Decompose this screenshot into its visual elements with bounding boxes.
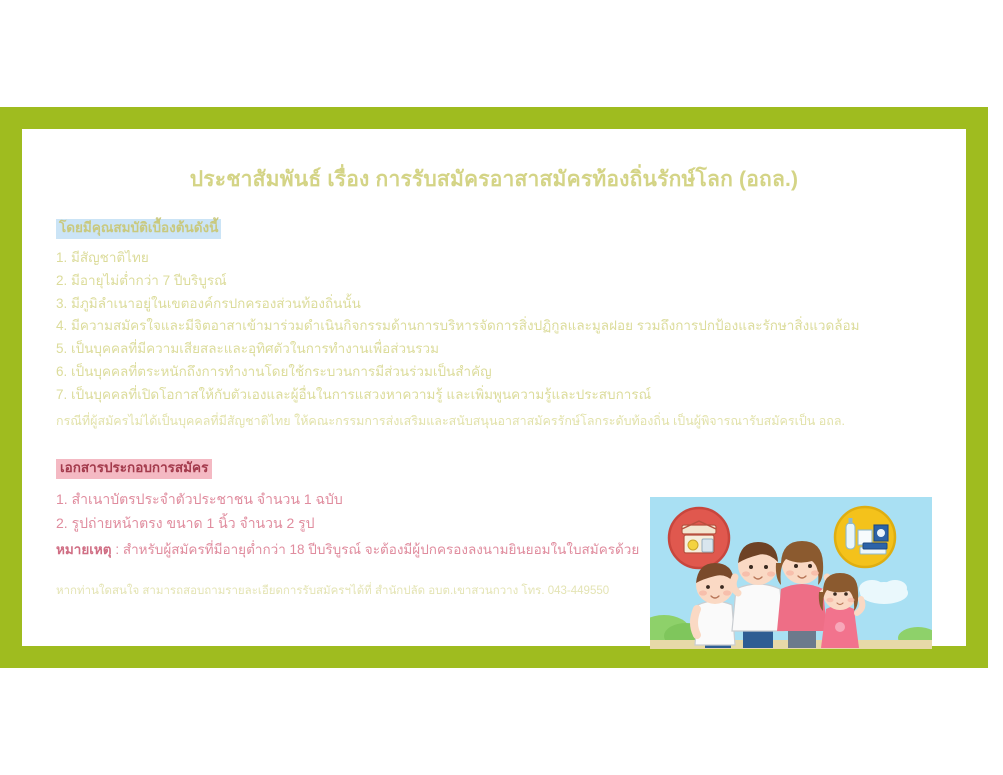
documents-section: เอกสารประกอบการสมัคร 1. สำเนาบัตรประจำตั…	[56, 459, 616, 562]
documents-heading-wrap: เอกสารประกอบการสมัคร	[56, 459, 616, 479]
recycling-bubble-icon	[835, 507, 895, 567]
list-item: 6. เป็นบุคคลที่ตระหนักถึงการทำงานโดยใช้ก…	[56, 361, 936, 383]
illustration-svg	[650, 497, 932, 649]
list-item: 4. มีความสมัครใจและมีจิตอาสาเข้ามาร่วมดำ…	[56, 315, 936, 337]
documents-note: หมายเหตุ : สำหรับผู้สมัครที่มีอายุต่ำกว่…	[56, 539, 616, 562]
list-item: 1. สำเนาบัตรประจำตัวประชาชน จำนวน 1 ฉบับ	[56, 487, 616, 512]
documents-heading: เอกสารประกอบการสมัคร	[56, 459, 212, 479]
qualifications-heading-wrap: โดยมีคุณสมบัติเบื้องต้นดังนี้	[56, 219, 936, 239]
qualifications-list: 1. มีสัญชาติไทย 2. มีอายุไม่ต่ำกว่า 7 ปี…	[56, 247, 936, 406]
family-recycling-illustration	[650, 497, 932, 649]
qualifications-note: กรณีที่ผู้สมัครไม่ได้เป็นบุคคลที่มีสัญชา…	[56, 411, 936, 431]
list-item: 2. รูปถ่ายหน้าตรง ขนาด 1 นิ้ว จำนวน 2 รู…	[56, 511, 616, 536]
list-item: 1. มีสัญชาติไทย	[56, 247, 936, 269]
qualifications-section: โดยมีคุณสมบัติเบื้องต้นดังนี้ 1. มีสัญชา…	[56, 219, 936, 431]
documents-note-label: หมายเหตุ	[56, 542, 112, 557]
footer-contact-line: หากท่านใดสนใจ สามารถสอบถามรายละเอียดการร…	[56, 582, 609, 600]
qualifications-heading: โดยมีคุณสมบัติเบื้องต้นดังนี้	[56, 219, 221, 239]
documents-list: 1. สำเนาบัตรประจำตัวประชาชน จำนวน 1 ฉบับ…	[56, 487, 616, 536]
poster-green-frame: ประชาสัมพันธ์ เรื่อง การรับสมัครอาสาสมัค…	[0, 107, 988, 668]
list-item: 2. มีอายุไม่ต่ำกว่า 7 ปีบริบูรณ์	[56, 270, 936, 292]
list-item: 3. มีภูมิลำเนาอยู่ในเขตองค์กรปกครองส่วนท…	[56, 293, 936, 315]
cloud-icon	[859, 580, 908, 604]
boy-character	[694, 563, 735, 648]
documents-note-text: : สำหรับผู้สมัครที่มีอายุต่ำกว่า 18 ปีบร…	[112, 542, 640, 557]
poster-content-area: ประชาสัมพันธ์ เรื่อง การรับสมัครอาสาสมัค…	[22, 129, 966, 646]
list-item: 5. เป็นบุคคลที่มีความเสียสละและอุทิศตัวใ…	[56, 338, 936, 360]
paper-stack-icon	[860, 543, 887, 554]
list-item: 7. เป็นบุคคลที่เปิดโอกาสให้กับตัวเองและผ…	[56, 384, 936, 406]
page-title: ประชาสัมพันธ์ เรื่อง การรับสมัครอาสาสมัค…	[22, 163, 966, 196]
waste-bubble-icon	[669, 508, 729, 568]
